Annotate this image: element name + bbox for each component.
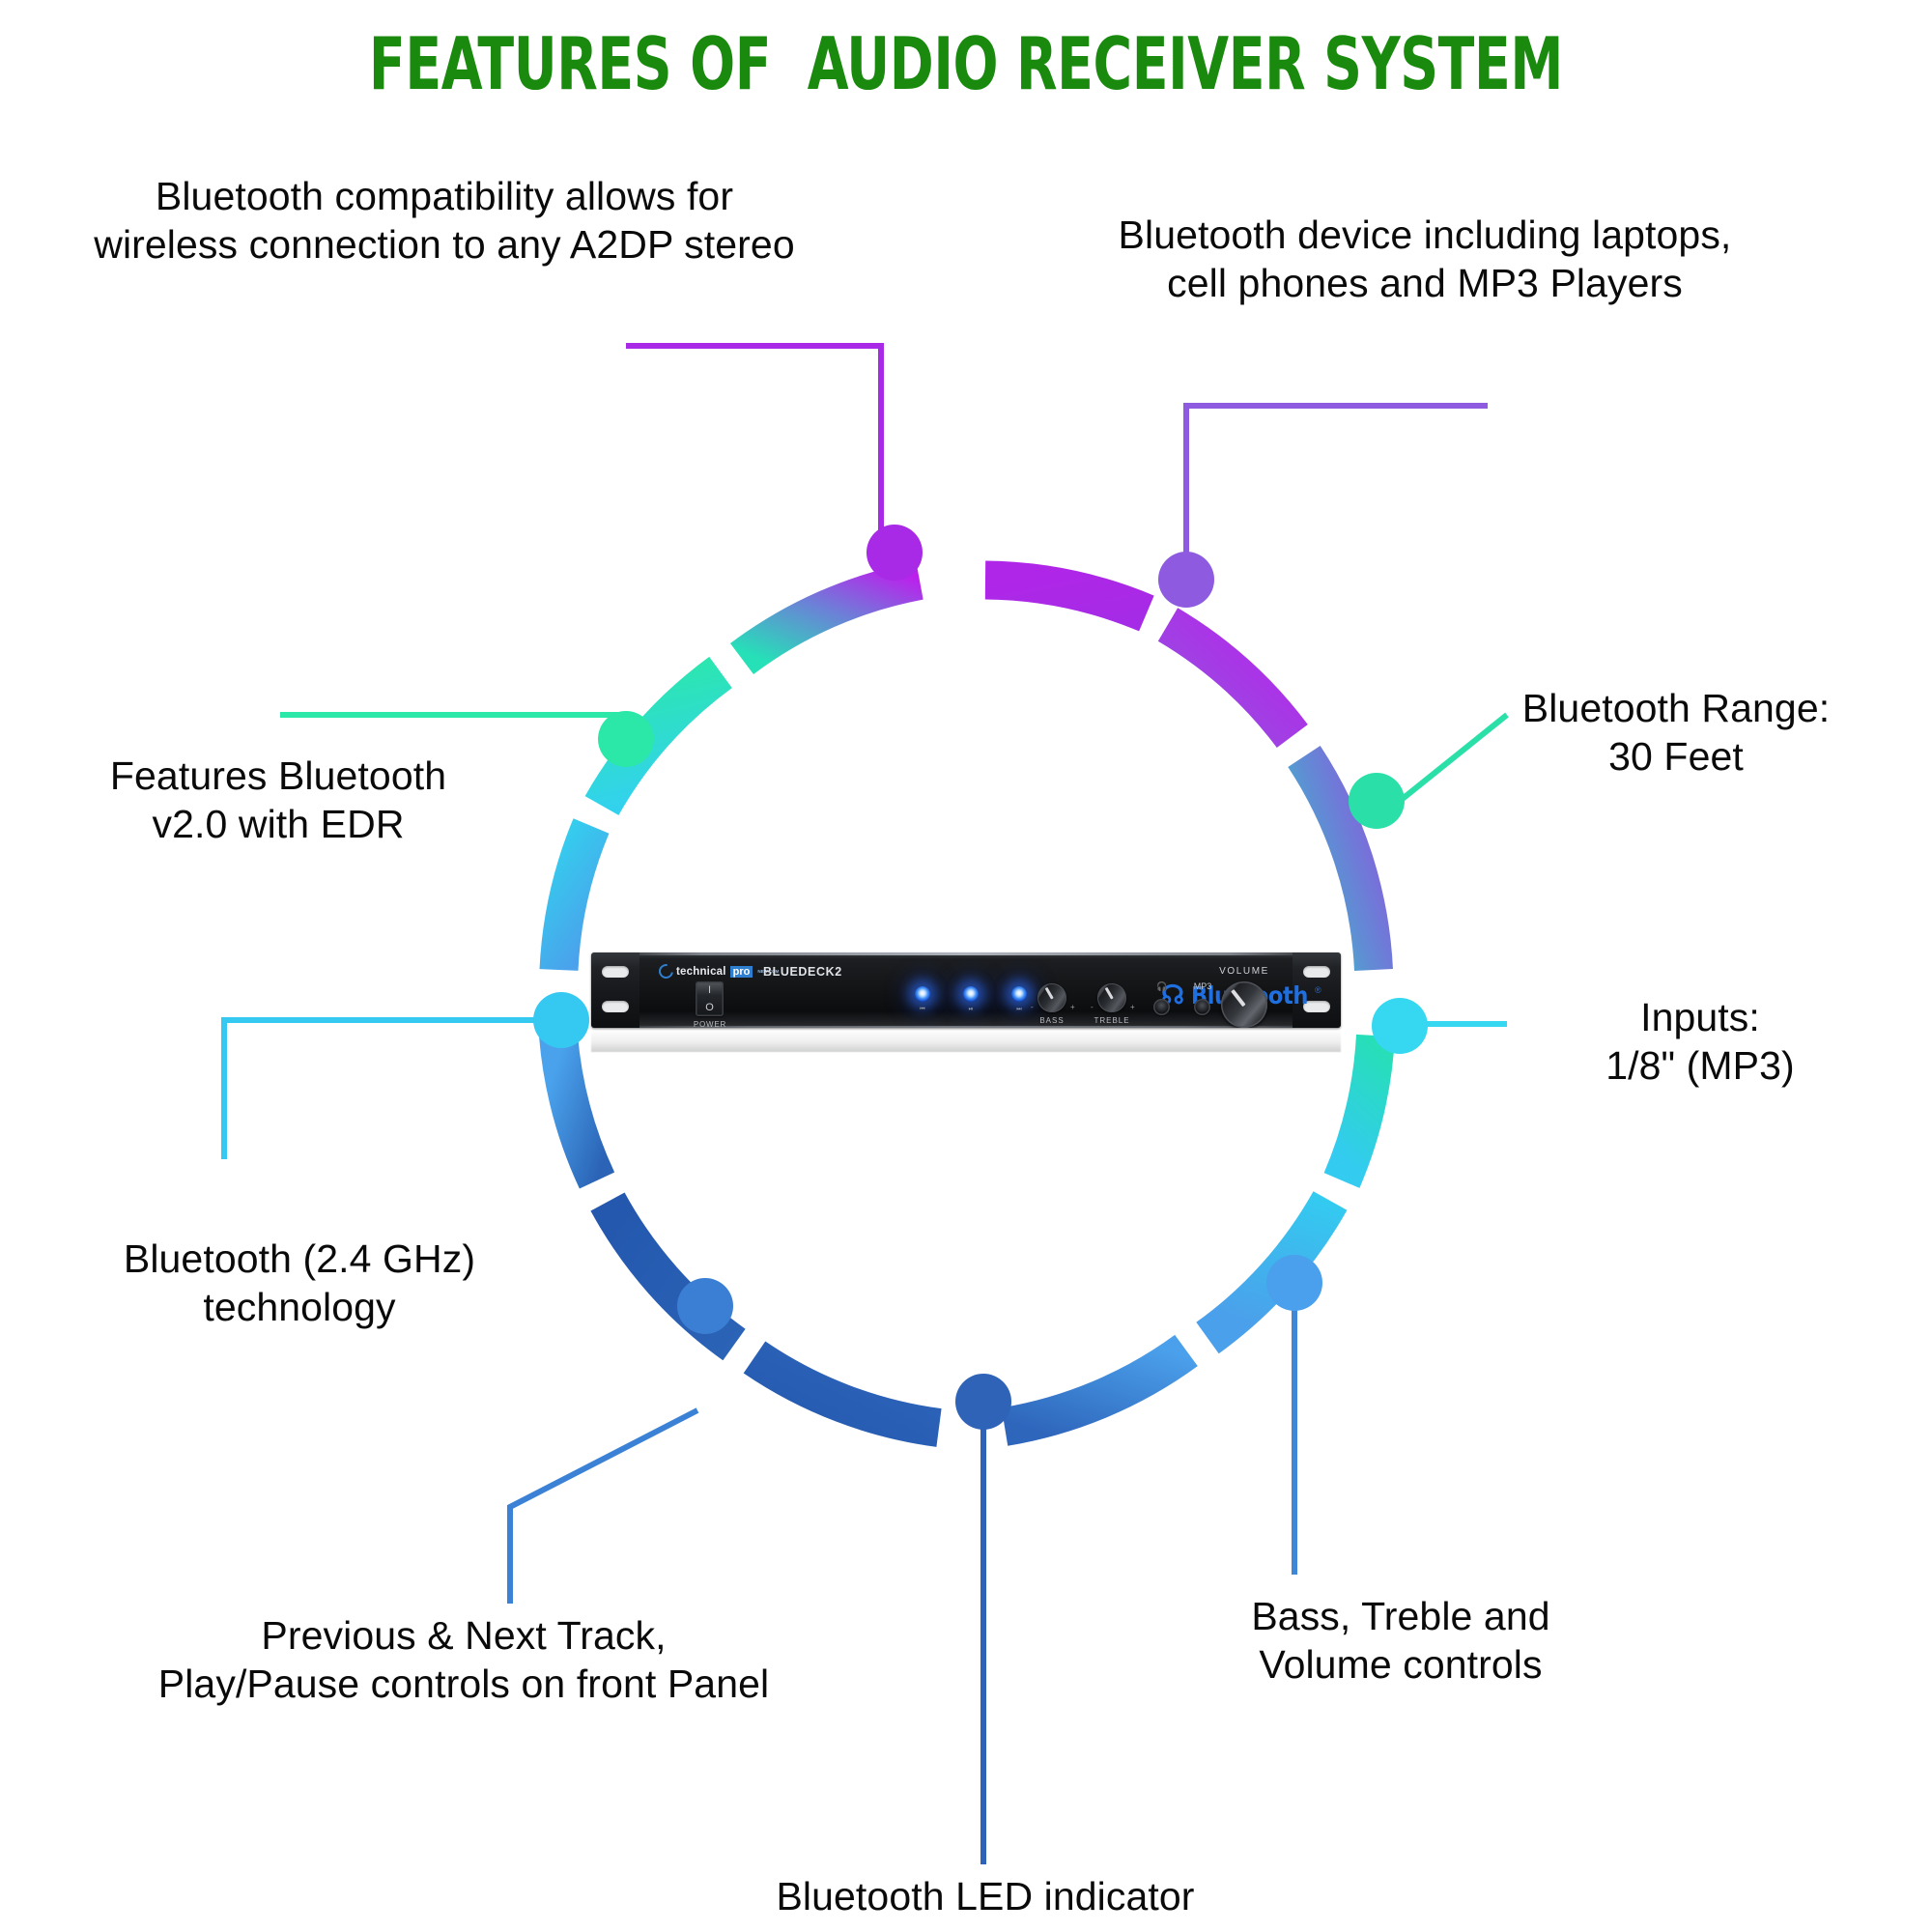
power-label: POWER — [684, 1020, 736, 1028]
audio-receiver-device: technical pro NEW.COM BLUEDECK2 I O POWE… — [591, 952, 1341, 1053]
bass-knob[interactable] — [1037, 983, 1066, 1012]
label-bottom-right: Bass, Treble and Volume controls — [1169, 1592, 1633, 1689]
connector-line-8 — [224, 1020, 553, 1159]
brand-pro-badge: pro — [730, 966, 753, 978]
label-bottom-left: Previous & Next Track, Play/Pause contro… — [39, 1611, 889, 1708]
label-bottom-center: Bluetooth LED indicator — [638, 1872, 1333, 1920]
volume-knob[interactable] — [1221, 981, 1267, 1028]
bass-knob-indicator — [1044, 987, 1053, 1000]
prev-track-led[interactable]: ⏮ — [910, 983, 935, 1014]
brand-swoosh-icon — [656, 961, 676, 981]
label-left-upper: Features Bluetooth v2.0 with EDR — [27, 752, 529, 848]
label-left-lower: Bluetooth (2.4 GHz) technology — [39, 1235, 560, 1331]
treble-tick-plus: + — [1130, 1003, 1135, 1011]
headphone-jack[interactable]: 🎧 — [1153, 999, 1170, 1015]
play-pause-led-label: ⏯ — [958, 1007, 983, 1013]
connector-line-1 — [626, 346, 881, 541]
next-track-led-label: ⏭ — [1007, 1007, 1032, 1013]
brand-name-text: technical — [676, 966, 726, 978]
play-pause-led-glow — [963, 986, 979, 1002]
rack-hole-right-top — [1303, 966, 1330, 978]
prev-track-led-glow — [915, 986, 930, 1002]
mp3-input-jack[interactable]: MP3 — [1194, 999, 1210, 1015]
bluetooth-trademark: ® — [1315, 985, 1321, 995]
power-switch[interactable]: I O — [696, 981, 724, 1016]
power-on-glyph: I — [708, 984, 711, 996]
device-model-text: BLUEDECK2 — [763, 965, 842, 979]
next-track-led[interactable]: ⏭ — [1007, 983, 1032, 1014]
treble-knob-indicator — [1104, 987, 1113, 1000]
device-chassis: technical pro NEW.COM BLUEDECK2 I O POWE… — [591, 952, 1341, 1028]
label-right-upper: Bluetooth Range: 30 Feet — [1449, 684, 1903, 781]
device-reflection — [591, 1029, 1341, 1052]
bass-label: BASS — [1026, 1016, 1078, 1025]
chassis-top-highlight — [618, 952, 1314, 955]
ring-segment-12 — [742, 581, 920, 659]
volume-label: VOLUME — [1206, 966, 1283, 977]
ring-segment-4 — [1342, 1036, 1376, 1180]
bass-tick-plus: + — [1070, 1003, 1075, 1011]
ring-node-bt-range — [1349, 773, 1405, 829]
ring-segment-6 — [1005, 1350, 1186, 1427]
infographic-canvas: FEATURES OF AUDIO RECEIVER SYSTEM — [0, 0, 1932, 1932]
treble-label: TREBLE — [1086, 1016, 1138, 1025]
power-off-glyph: O — [705, 1002, 714, 1013]
treble-knob[interactable] — [1097, 983, 1126, 1012]
ring-node-inputs — [1372, 998, 1428, 1054]
connector-line-2 — [1186, 406, 1488, 580]
led-cluster: ⏮ ⏯ ⏭ — [910, 983, 1032, 1014]
ring-node-controls — [1266, 1255, 1322, 1311]
label-top-right: Bluetooth device including laptops, cell… — [1014, 211, 1835, 307]
ring-segment-7 — [754, 1357, 939, 1428]
ring-node-bt-devices — [1158, 552, 1214, 608]
treble-tick-minus: - — [1091, 1003, 1094, 1011]
ring-node-led-indicator — [955, 1374, 1011, 1430]
mp3-label: MP3 — [1183, 981, 1222, 991]
ring-segment-1 — [985, 581, 1147, 614]
ring-node-track-controls — [677, 1278, 733, 1334]
prev-track-led-label: ⏮ — [910, 1007, 935, 1013]
headphone-icon: 🎧 — [1143, 981, 1181, 992]
next-track-led-glow — [1011, 986, 1027, 1002]
rack-hole-left-bottom — [602, 1001, 629, 1012]
volume-knob-indicator — [1231, 989, 1245, 1007]
ring-node-bluetooth-compat — [867, 525, 923, 581]
label-top-left: Bluetooth compatibility allows for wirel… — [39, 172, 850, 269]
connector-line-7 — [510, 1410, 697, 1604]
ring-segment-9 — [558, 1036, 597, 1180]
ring-node-bt-24ghz — [533, 992, 589, 1048]
rack-ear-left — [591, 952, 639, 1028]
brand-logo: technical pro NEW.COM — [659, 964, 779, 979]
play-pause-led[interactable]: ⏯ — [958, 983, 983, 1014]
bass-tick-minus: - — [1031, 1003, 1034, 1011]
rack-hole-left-top — [602, 966, 629, 978]
ring-segment-10 — [559, 826, 592, 970]
ring-node-bt-v20-edr — [598, 711, 654, 767]
ring-segment-2 — [1168, 625, 1293, 737]
label-right-lower: Inputs: 1/8" (MP3) — [1507, 993, 1893, 1090]
